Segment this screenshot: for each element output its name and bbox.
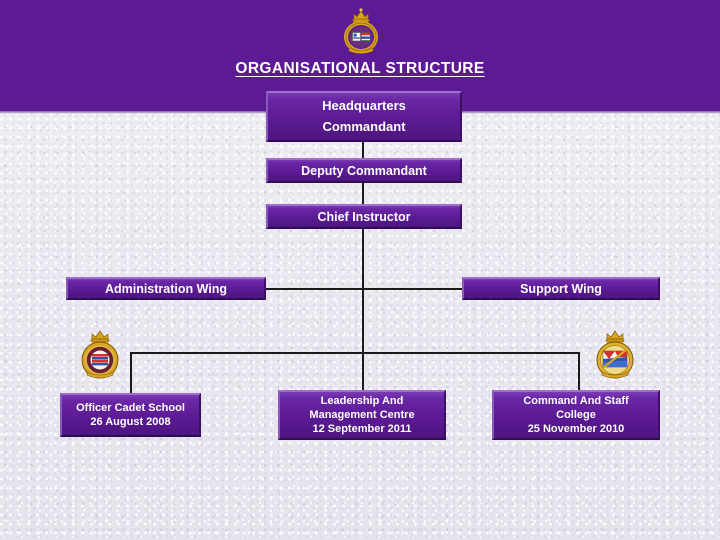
connector-wing-bar (265, 288, 463, 290)
node-administration-wing[interactable]: Administration Wing (66, 277, 266, 300)
slide-canvas: ORGANISATIONAL STRUCTURE Headquarters Co… (0, 0, 720, 540)
node-chief-instructor[interactable]: Chief Instructor (266, 204, 462, 229)
node-headquarters-line2: Commandant (268, 119, 460, 136)
node-leadership-management-centre-line1: Leadership And (280, 394, 444, 408)
node-officer-cadet-school-label: Officer Cadet School (62, 401, 199, 415)
node-deputy-commandant[interactable]: Deputy Commandant (266, 158, 462, 183)
node-chief-instructor-label: Chief Instructor (268, 209, 460, 225)
node-officer-cadet-school[interactable]: Officer Cadet School 26 August 2008 (60, 393, 201, 437)
node-administration-wing-label: Administration Wing (68, 281, 264, 297)
node-headquarters-line1: Headquarters (268, 98, 460, 115)
node-deputy-commandant-label: Deputy Commandant (268, 163, 460, 179)
connector-to-command-staff-college (578, 352, 580, 391)
military-crest-icon (340, 6, 382, 56)
node-leadership-management-centre[interactable]: Leadership And Management Centre 12 Sept… (278, 390, 446, 440)
node-command-staff-college-line2: College (494, 408, 658, 422)
node-leadership-management-centre-date: 12 September 2011 (280, 422, 444, 436)
connector-deputy-to-chief (362, 182, 364, 205)
connector-to-officer-cadet-school (130, 352, 132, 394)
node-headquarters-commandant[interactable]: Headquarters Commandant (266, 91, 462, 142)
connector-hq-to-deputy (362, 141, 364, 159)
node-command-staff-college-line1: Command And Staff (494, 394, 658, 408)
node-leadership-management-centre-line2: Management Centre (280, 408, 444, 422)
officer-cadet-school-badge-icon (73, 327, 127, 381)
connector-to-leadership-management-centre (362, 352, 364, 391)
node-support-wing[interactable]: Support Wing (462, 277, 660, 300)
connector-chief-trunk (362, 228, 364, 289)
command-and-staff-college-badge-icon (588, 327, 642, 381)
page-title: ORGANISATIONAL STRUCTURE (0, 60, 720, 78)
node-support-wing-label: Support Wing (464, 281, 658, 297)
node-officer-cadet-school-date: 26 August 2008 (62, 415, 199, 429)
node-command-staff-college[interactable]: Command And Staff College 25 November 20… (492, 390, 660, 440)
node-command-staff-college-date: 25 November 2010 (494, 422, 658, 436)
connector-trunk-lower (362, 289, 364, 353)
connector-distribution-bar (130, 352, 580, 354)
